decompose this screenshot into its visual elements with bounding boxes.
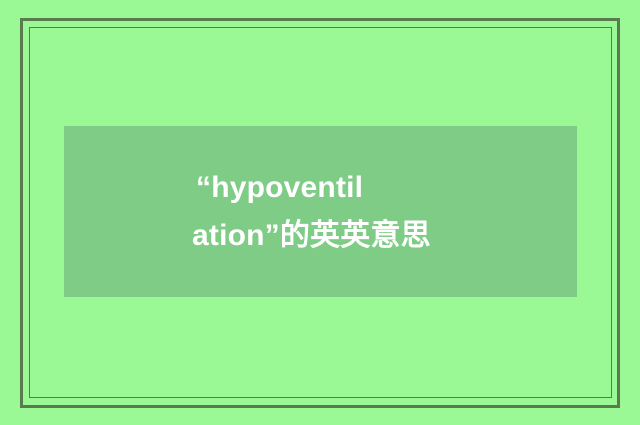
poster-canvas: “hypoventil ation”的英英意思 (0, 0, 640, 425)
title-text-line-1: “hypoventil (196, 164, 363, 212)
title-text-line-2: ation”的英英意思 (192, 212, 431, 260)
title-plate: “hypoventil ation”的英英意思 (64, 126, 577, 297)
